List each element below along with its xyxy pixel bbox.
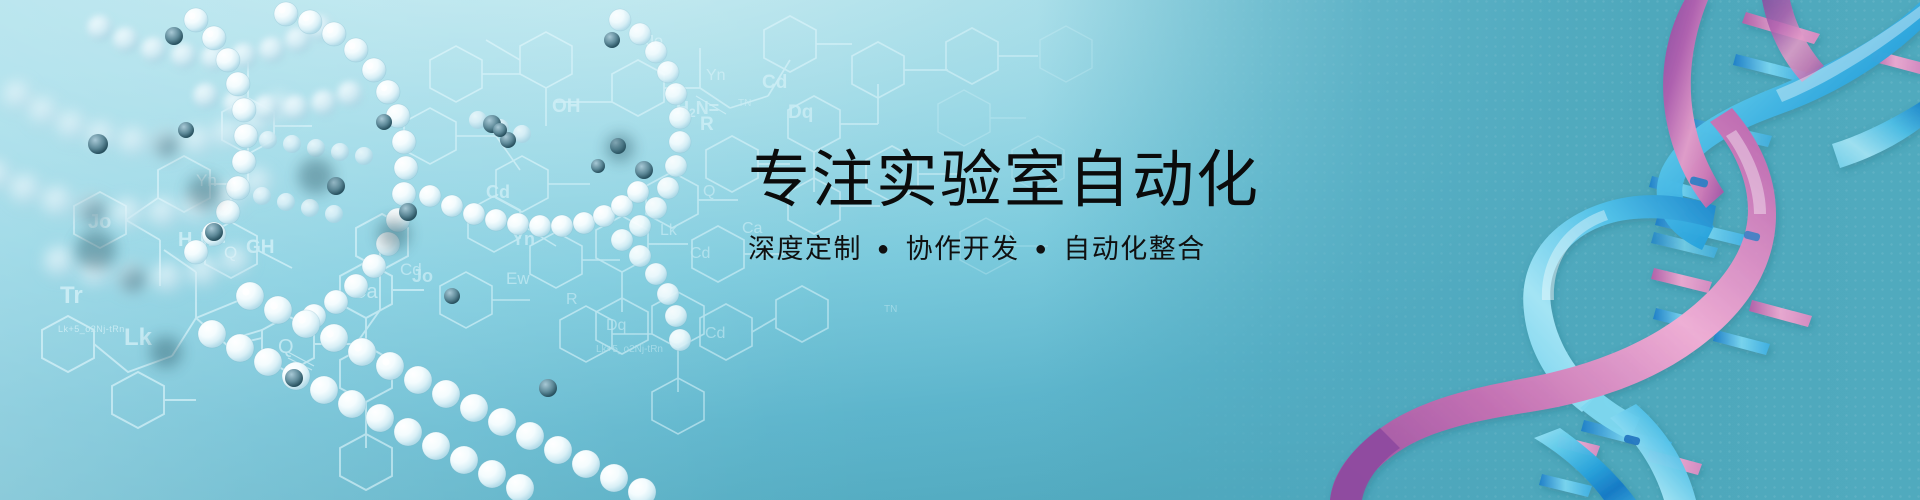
subtitle-part-1: 深度定制 — [748, 234, 862, 264]
subtitle-part-2: 协作开发 — [906, 234, 1020, 264]
page-title: 专注实验室自动化 — [748, 150, 1448, 212]
hero-copy: 专注实验室自动化 深度定制 ● 协作开发 ● 自动化整合 — [748, 150, 1448, 263]
hero-banner: Tr Lk Q Ca GH Lk+5_o2Nj-tRn — [0, 0, 1920, 500]
subtitle-part-3: 自动化整合 — [1063, 234, 1206, 264]
bullet-separator-icon: ● — [871, 239, 897, 259]
hero-subtitle: 深度定制 ● 协作开发 ● 自动化整合 — [748, 236, 1448, 263]
bullet-separator-icon: ● — [1029, 239, 1055, 259]
